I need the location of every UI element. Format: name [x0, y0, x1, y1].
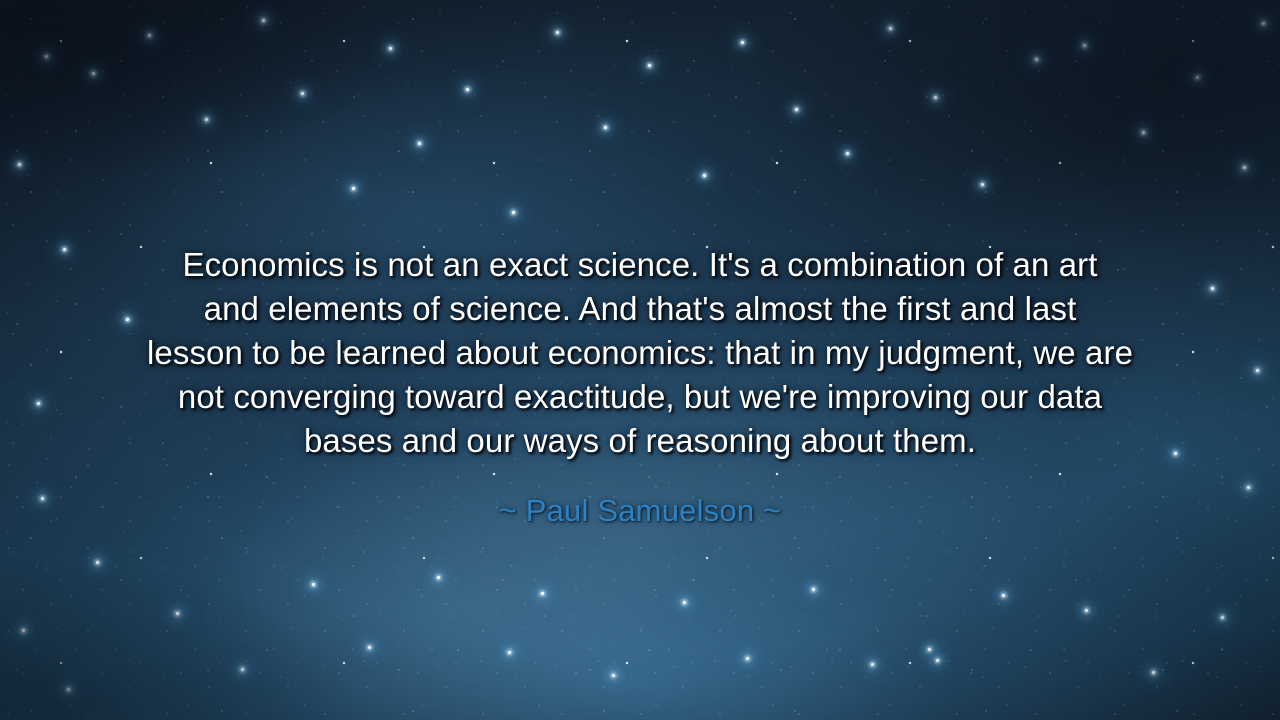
quote-line: lesson to be learned about economics: th…: [40, 331, 1240, 375]
quote-attribution: ~ Paul Samuelson ~: [40, 463, 1240, 531]
quote-line: Economics is not an exact science. It's …: [40, 243, 1240, 287]
quote-line: and elements of science. And that's almo…: [40, 287, 1240, 331]
quote-image-canvas: Economics is not an exact science. It's …: [0, 0, 1280, 720]
quote-line: bases and our ways of reasoning about th…: [40, 419, 1240, 463]
quote-line: not converging toward exactitude, but we…: [40, 375, 1240, 419]
quote-block: Economics is not an exact science. It's …: [0, 243, 1280, 531]
